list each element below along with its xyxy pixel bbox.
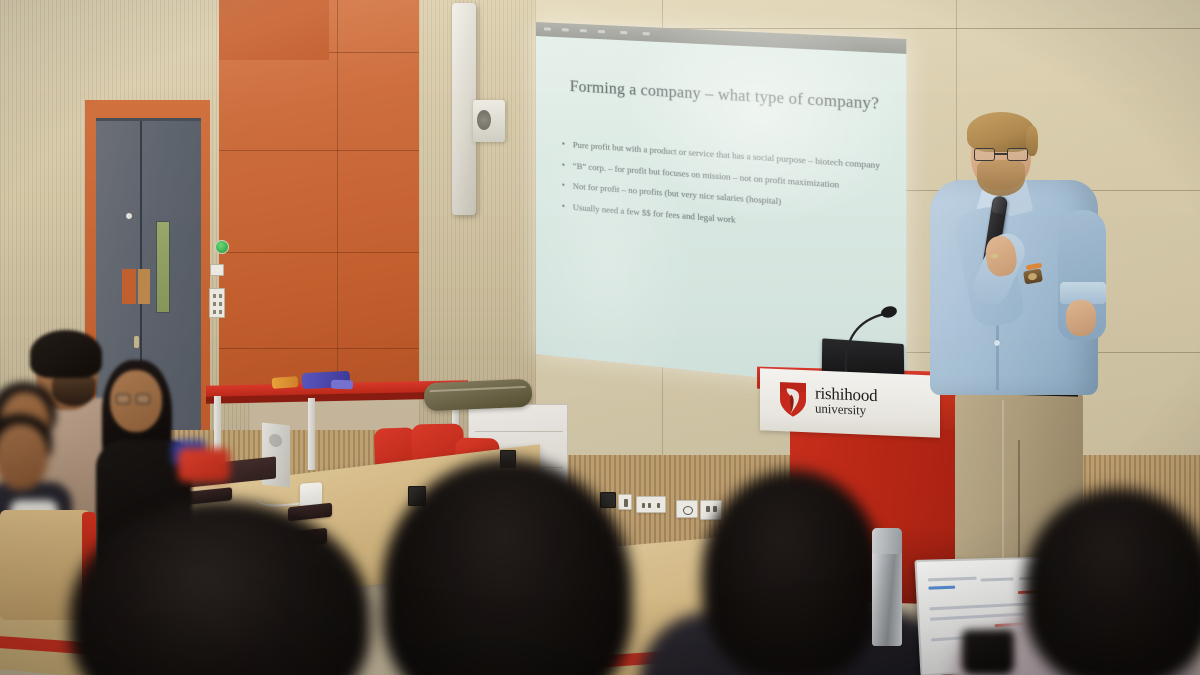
university-logo: rishihood university [778,379,877,421]
presenter-hair [967,112,1035,152]
door-sticker-tan [138,269,150,304]
student-hair [30,330,102,378]
eyeglasses-icon [116,394,150,404]
podium-front-panel: rishihood university [760,368,940,438]
light-switch-plate-small[interactable] [210,264,224,276]
door-marker [126,213,132,219]
lecture-hall-photo: Forming a company – what type of company… [0,0,1200,675]
speaker-mount-bracket [473,100,505,142]
thermos-flask [872,528,902,646]
stationery-purple [331,380,353,390]
ring-icon [991,254,998,258]
door-sticker-orange [122,269,136,304]
presenter-right-hand [1066,300,1096,336]
light-switch-plate-large[interactable] [209,288,225,318]
audience-head-foreground [702,470,882,675]
gooseneck-microphone [836,300,906,372]
student-beard [52,376,96,406]
door-vision-panel [156,221,170,313]
door-handle[interactable] [134,336,139,348]
coffee-cup [962,630,1014,675]
student-head [0,424,48,490]
exit-sign-icon [215,240,229,254]
slide-bullet-list: Pure profit but with a product or servic… [562,139,895,249]
slide-title: Forming a company – what type of company… [570,78,886,115]
stationery-orange [272,376,299,389]
shield-icon [778,379,808,418]
power-socket-double[interactable] [636,496,666,513]
pencil-pouch [423,379,532,412]
backpack-red [178,448,230,482]
power-socket-round[interactable] [676,500,698,518]
presenter-beard [977,160,1025,196]
light-switch[interactable] [618,494,632,510]
wall-panel-orange-top [219,0,329,60]
eyeglasses-icon [974,148,1028,161]
